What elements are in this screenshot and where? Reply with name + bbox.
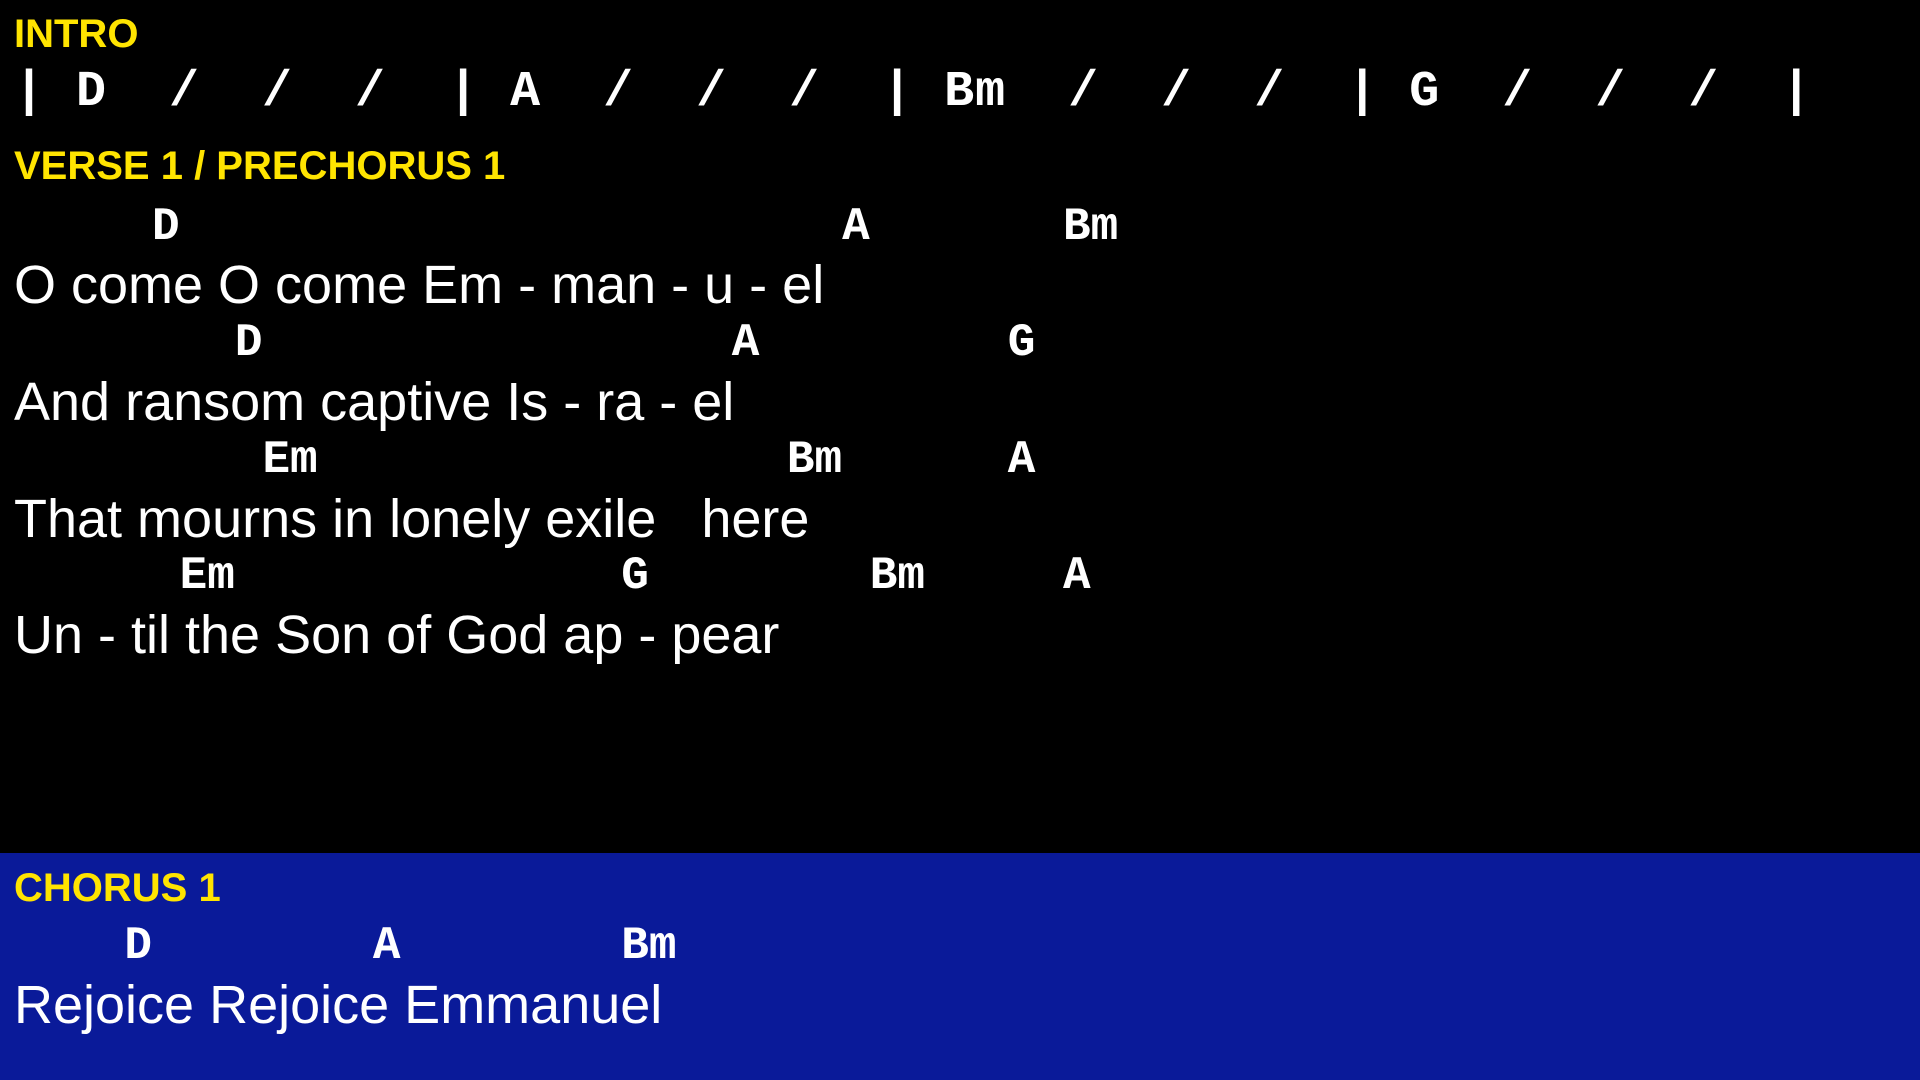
lyric-row: That mourns in lonely exile here (14, 492, 809, 546)
chord-row: Em Bm A (14, 437, 1035, 483)
chord-row: Em G Bm A (14, 553, 1091, 599)
lyric-row: Rejoice Rejoice Emmanuel (14, 978, 662, 1032)
section-label-chorus-1: CHORUS 1 (14, 868, 221, 908)
intro-bar-line: | D / / / | A / / / | Bm / / / | G / / /… (14, 68, 1812, 118)
lyric-row: And ransom captive Is - ra - el (14, 375, 734, 429)
chord-row: D A Bm (14, 923, 677, 969)
chord-chart-slide: INTRO | D / / / | A / / / | Bm / / / | G… (0, 0, 1920, 1080)
section-label-intro: INTRO (14, 14, 138, 54)
lyric-row: Un - til the Son of God ap - pear (14, 608, 779, 662)
lyric-row: O come O come Em - man - u - el (14, 258, 824, 312)
chord-row: D A G (14, 320, 1035, 366)
section-label-verse-1-prechorus-1: VERSE 1 / PRECHORUS 1 (14, 146, 505, 186)
chord-row: D A Bm (14, 204, 1118, 250)
